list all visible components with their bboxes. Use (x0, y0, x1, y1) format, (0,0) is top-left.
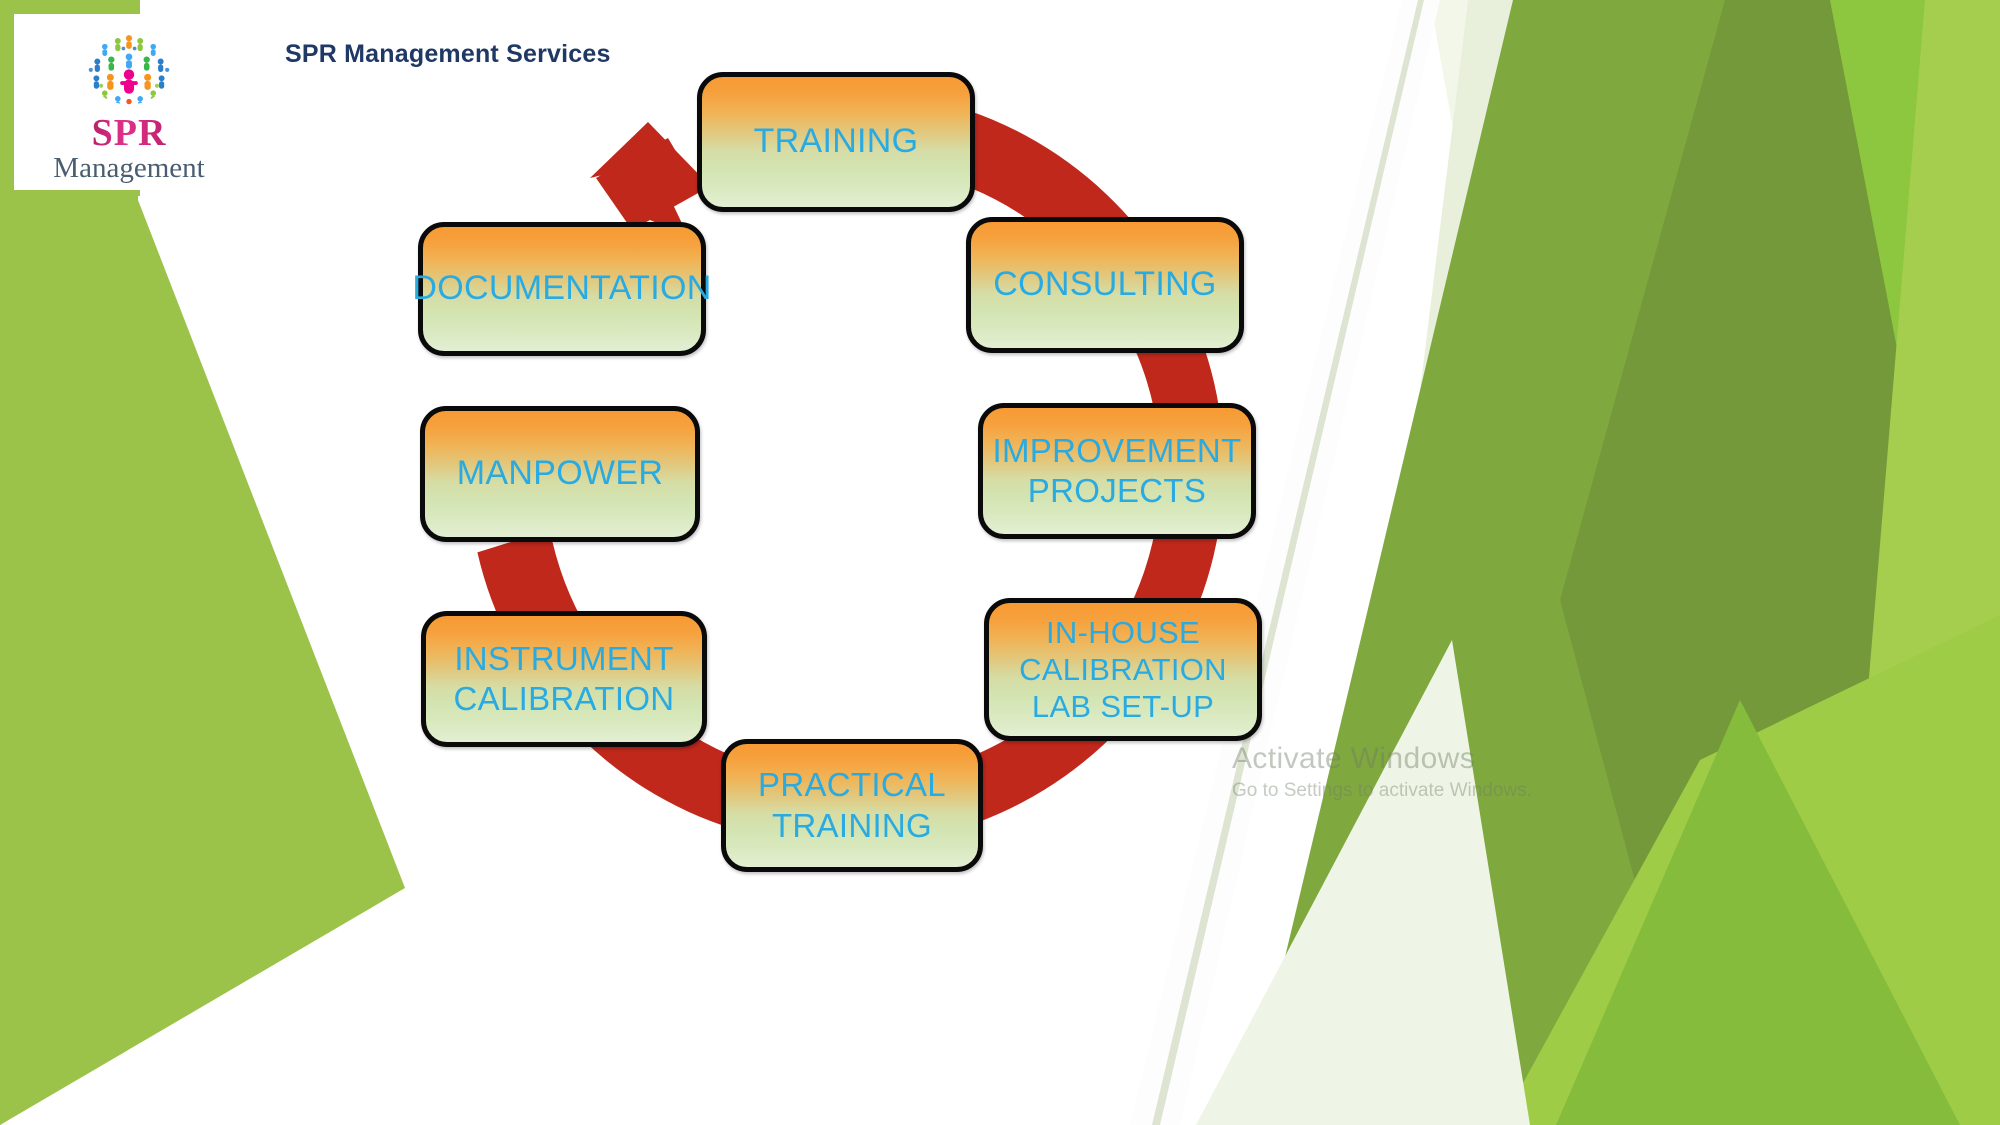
process-box-label: TRAINING (754, 121, 919, 162)
process-box-instrument-calibration[interactable]: INSTRUMENT CALIBRATION (421, 611, 707, 747)
process-box-documentation[interactable]: DOCUMENTATION (418, 222, 706, 356)
process-box-label: MANPOWER (457, 453, 663, 494)
page-title: SPR Management Services (285, 40, 611, 69)
cycle-band-join (596, 138, 700, 230)
process-box-label: IN-HOUSE CALIBRATION LAB SET-UP (1019, 614, 1227, 726)
process-box-consulting[interactable]: CONSULTING (966, 217, 1244, 353)
company-logo: SPR Management (18, 18, 240, 183)
process-box-label: DOCUMENTATION (412, 268, 711, 309)
process-box-manpower[interactable]: MANPOWER (420, 406, 700, 542)
presentation-slide: SPR Management SPR Management Services T… (0, 0, 2000, 1125)
process-box-practical-training[interactable]: PRACTICAL TRAINING (721, 739, 983, 872)
globe-of-people-icon (81, 28, 177, 116)
process-box-in-house-calibration-lab-set-up[interactable]: IN-HOUSE CALIBRATION LAB SET-UP (984, 598, 1262, 741)
logo-subtitle: Management (53, 153, 204, 183)
process-box-improvement-projects[interactable]: IMPROVEMENT PROJECTS (978, 403, 1256, 539)
process-box-label: CONSULTING (993, 264, 1216, 305)
process-box-label: IMPROVEMENT PROJECTS (993, 431, 1242, 512)
logo-title: SPR (92, 114, 167, 152)
process-box-training[interactable]: TRAINING (697, 72, 975, 212)
process-box-label: PRACTICAL TRAINING (758, 765, 946, 846)
process-box-label: INSTRUMENT CALIBRATION (454, 639, 675, 720)
